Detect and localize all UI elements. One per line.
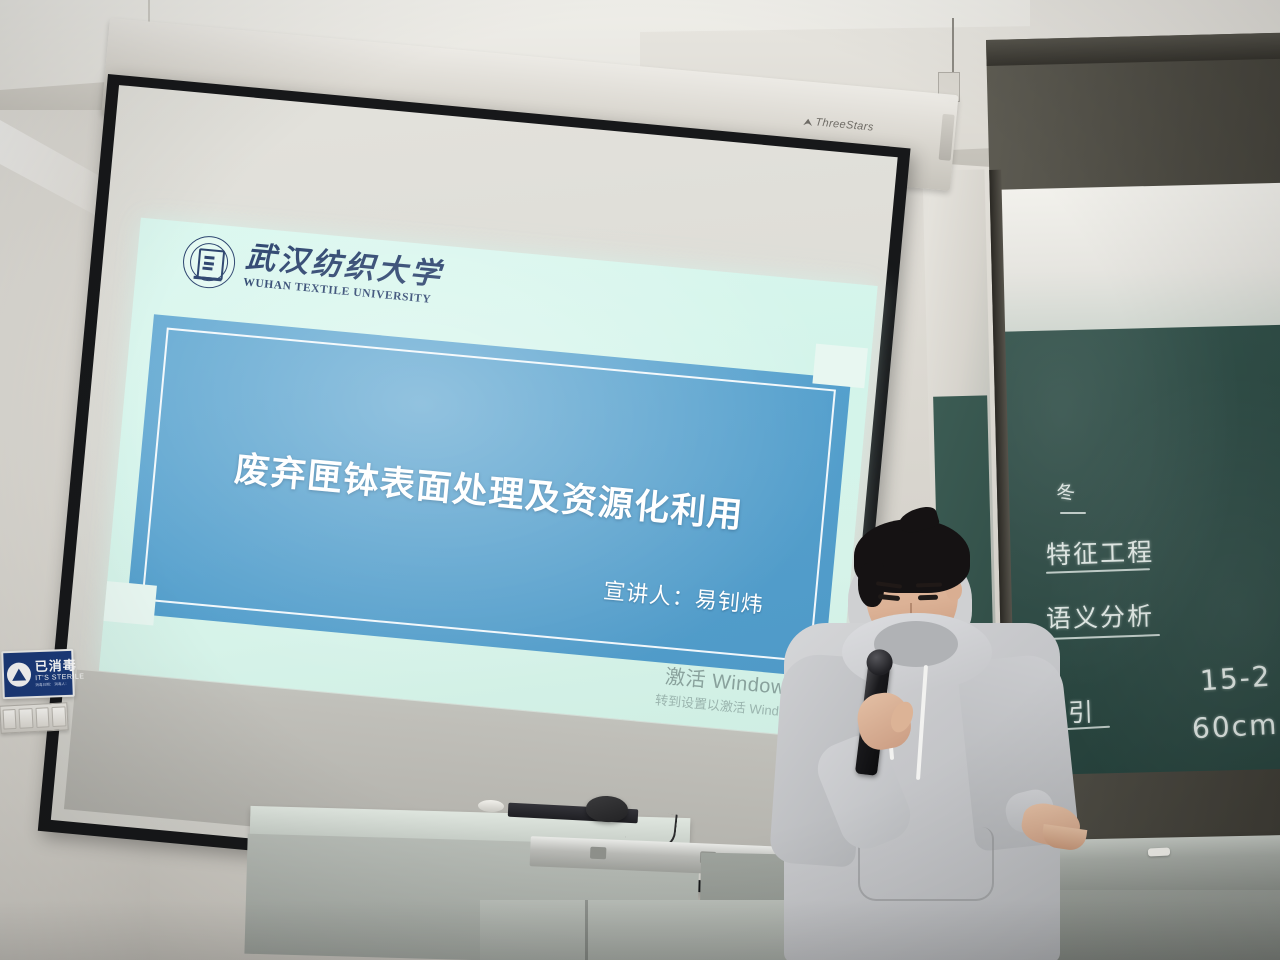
wall-switch-strip[interactable] (0, 702, 69, 734)
desk-seam (585, 900, 588, 960)
presenter (770, 505, 1070, 960)
university-seal-logo-icon (181, 234, 238, 291)
corner-accent-top-right (812, 344, 867, 389)
wall-switch[interactable] (35, 707, 50, 728)
chalk-note-mark: 冬 (1054, 477, 1079, 507)
right-hanging-wire (952, 18, 954, 76)
chalk-note-cm: 60cm (1191, 708, 1279, 745)
classroom-presentation-photo: 冬 特征工程 语义分析 引 15-2 60cm ThreeStars 武汉纺织大… (0, 0, 1280, 960)
triangle-warning-icon (7, 662, 32, 687)
sterile-text-en: IT'S STERILE (35, 674, 85, 683)
wall-switch[interactable] (2, 709, 17, 730)
screen-brand-label: ThreeStars (803, 115, 874, 133)
corner-accent-bottom-left (103, 581, 156, 625)
sterile-sticker-text: 已消毒 IT'S STERILE 消毒日期： 消毒人： (35, 659, 85, 688)
presenter-eye-right (918, 595, 938, 601)
tray-notch (590, 847, 606, 860)
wall-switch[interactable] (51, 706, 66, 727)
wall-switch[interactable] (18, 708, 33, 729)
university-name-block: 武汉纺织大学 WUHAN TEXTILE UNIVERSITY (243, 242, 444, 307)
slide-title-panel: 废弃匣钵表面处理及资源化利用 宣讲人：易钊炜 (126, 314, 851, 677)
chalk-note-range: 15-2 (1199, 660, 1273, 698)
projected-slide: 武汉纺织大学 WUHAN TEXTILE UNIVERSITY 废弃匣钵表面处理… (99, 218, 878, 739)
sterile-sticker: 已消毒 IT'S STERILE 消毒日期： 消毒人： (1, 649, 75, 699)
brand-mark-icon (803, 118, 813, 126)
roller-endcap (939, 114, 955, 161)
sterile-text-cn: 已消毒 (35, 659, 85, 674)
slide-header: 武汉纺织大学 WUHAN TEXTILE UNIVERSITY (181, 234, 445, 310)
chalk-note-yin: 引 (1067, 693, 1095, 730)
blackboard-glare-band (998, 183, 1280, 340)
chalk-piece (1148, 847, 1170, 856)
